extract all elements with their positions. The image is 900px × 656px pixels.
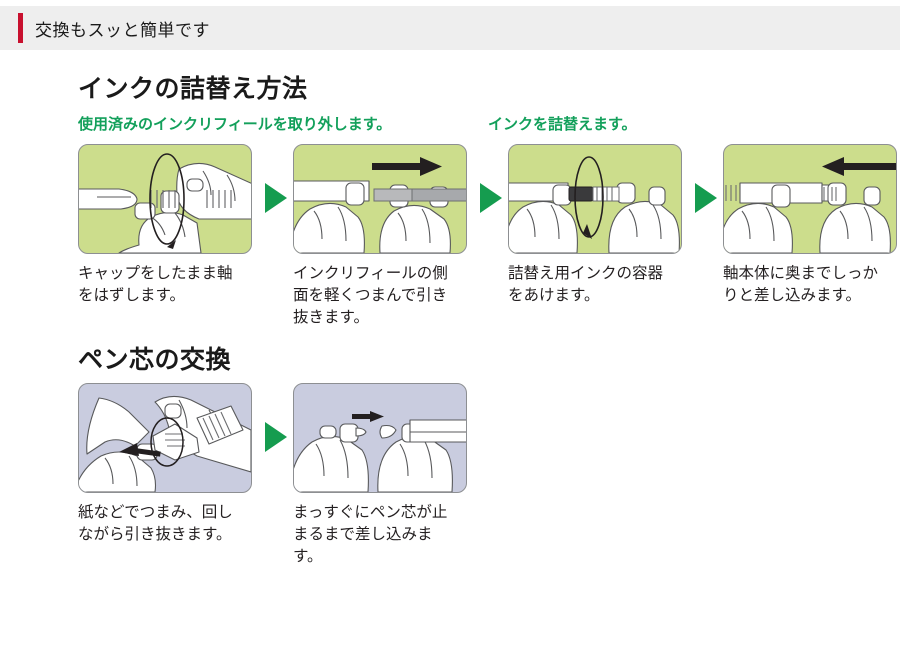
- step-5: 紙などでつまみ、回しながら引き抜きます。: [78, 383, 258, 546]
- step-2: インクリフィールの側面を軽くつまんで引き抜きます。: [293, 144, 473, 329]
- arrow-gap-2: [473, 144, 508, 252]
- step-6: まっすぐにペン芯が止まるまで差し込みます。: [293, 383, 473, 568]
- arrow-right-black-icon: [372, 157, 442, 176]
- next-step-arrow-icon: [265, 422, 287, 452]
- ink-refill-step-strip: キャップをしたまま軸をはずします。: [78, 144, 900, 329]
- step-4-caption: 軸本体に奥までしっかりと差し込みます。: [723, 263, 891, 307]
- step-3-caption: 詰替え用インクの容器をあけます。: [508, 263, 676, 307]
- page-header: 交換もスッと簡単です: [0, 6, 900, 50]
- illustration-inserting-nib-straight: [293, 383, 467, 493]
- subtitle-refill-ink: インクを詰替えます。: [488, 115, 637, 135]
- arrow-left-black-icon: [822, 157, 896, 176]
- step-1-caption: キャップをしたまま軸をはずします。: [78, 263, 246, 307]
- page-title: 交換もスッと簡単です: [35, 16, 210, 41]
- subtitle-remove-used-refill: 使用済みのインクリフィールを取り外します。: [78, 115, 488, 135]
- arrow-gap-1: [258, 144, 293, 252]
- illustration-pulling-nib-with-paper: [78, 383, 252, 493]
- step-5-caption: 紙などでつまみ、回しながら引き抜きます。: [78, 502, 246, 546]
- illustration-hand-inserting-refill-into-barrel: [723, 144, 897, 254]
- section-ink-refill: インクの詰替え方法 使用済みのインクリフィールを取り外します。 インクを詰替えま…: [0, 50, 900, 329]
- step-3: 詰替え用インクの容器をあけます。: [508, 144, 688, 307]
- step-2-caption: インクリフィールの側面を軽くつまんで引き抜きます。: [293, 263, 461, 329]
- step-1: キャップをしたまま軸をはずします。: [78, 144, 258, 307]
- subtitle-row: 使用済みのインクリフィールを取り外します。 インクを詰替えます。: [78, 115, 900, 135]
- header-accent-bar: [18, 13, 23, 43]
- step-6-caption: まっすぐにペン芯が止まるまで差し込みます。: [293, 502, 461, 568]
- illustration-hand-twisting-pen-barrel: [78, 144, 252, 254]
- arrow-gap-3: [688, 144, 723, 252]
- content-area: インクの詰替え方法 使用済みのインクリフィールを取り外します。 インクを詰替えま…: [0, 50, 900, 568]
- illustration-hand-pulling-ink-refill: [293, 144, 467, 254]
- section-title-ink-refill: インクの詰替え方法: [78, 76, 900, 104]
- step-4: 軸本体に奥までしっかりと差し込みます。: [723, 144, 900, 307]
- section-nib-replacement: ペン芯の交換: [0, 329, 900, 569]
- next-step-arrow-icon: [265, 183, 287, 213]
- illustration-hand-opening-ink-container: [508, 144, 682, 254]
- next-step-arrow-icon: [480, 183, 502, 213]
- arrow-gap-4: [258, 383, 293, 491]
- section-title-nib-replacement: ペン芯の交換: [78, 347, 900, 375]
- arrow-right-black-icon: [352, 411, 384, 422]
- next-step-arrow-icon: [695, 183, 717, 213]
- nib-replacement-step-strip: 紙などでつまみ、回しながら引き抜きます。: [78, 383, 900, 568]
